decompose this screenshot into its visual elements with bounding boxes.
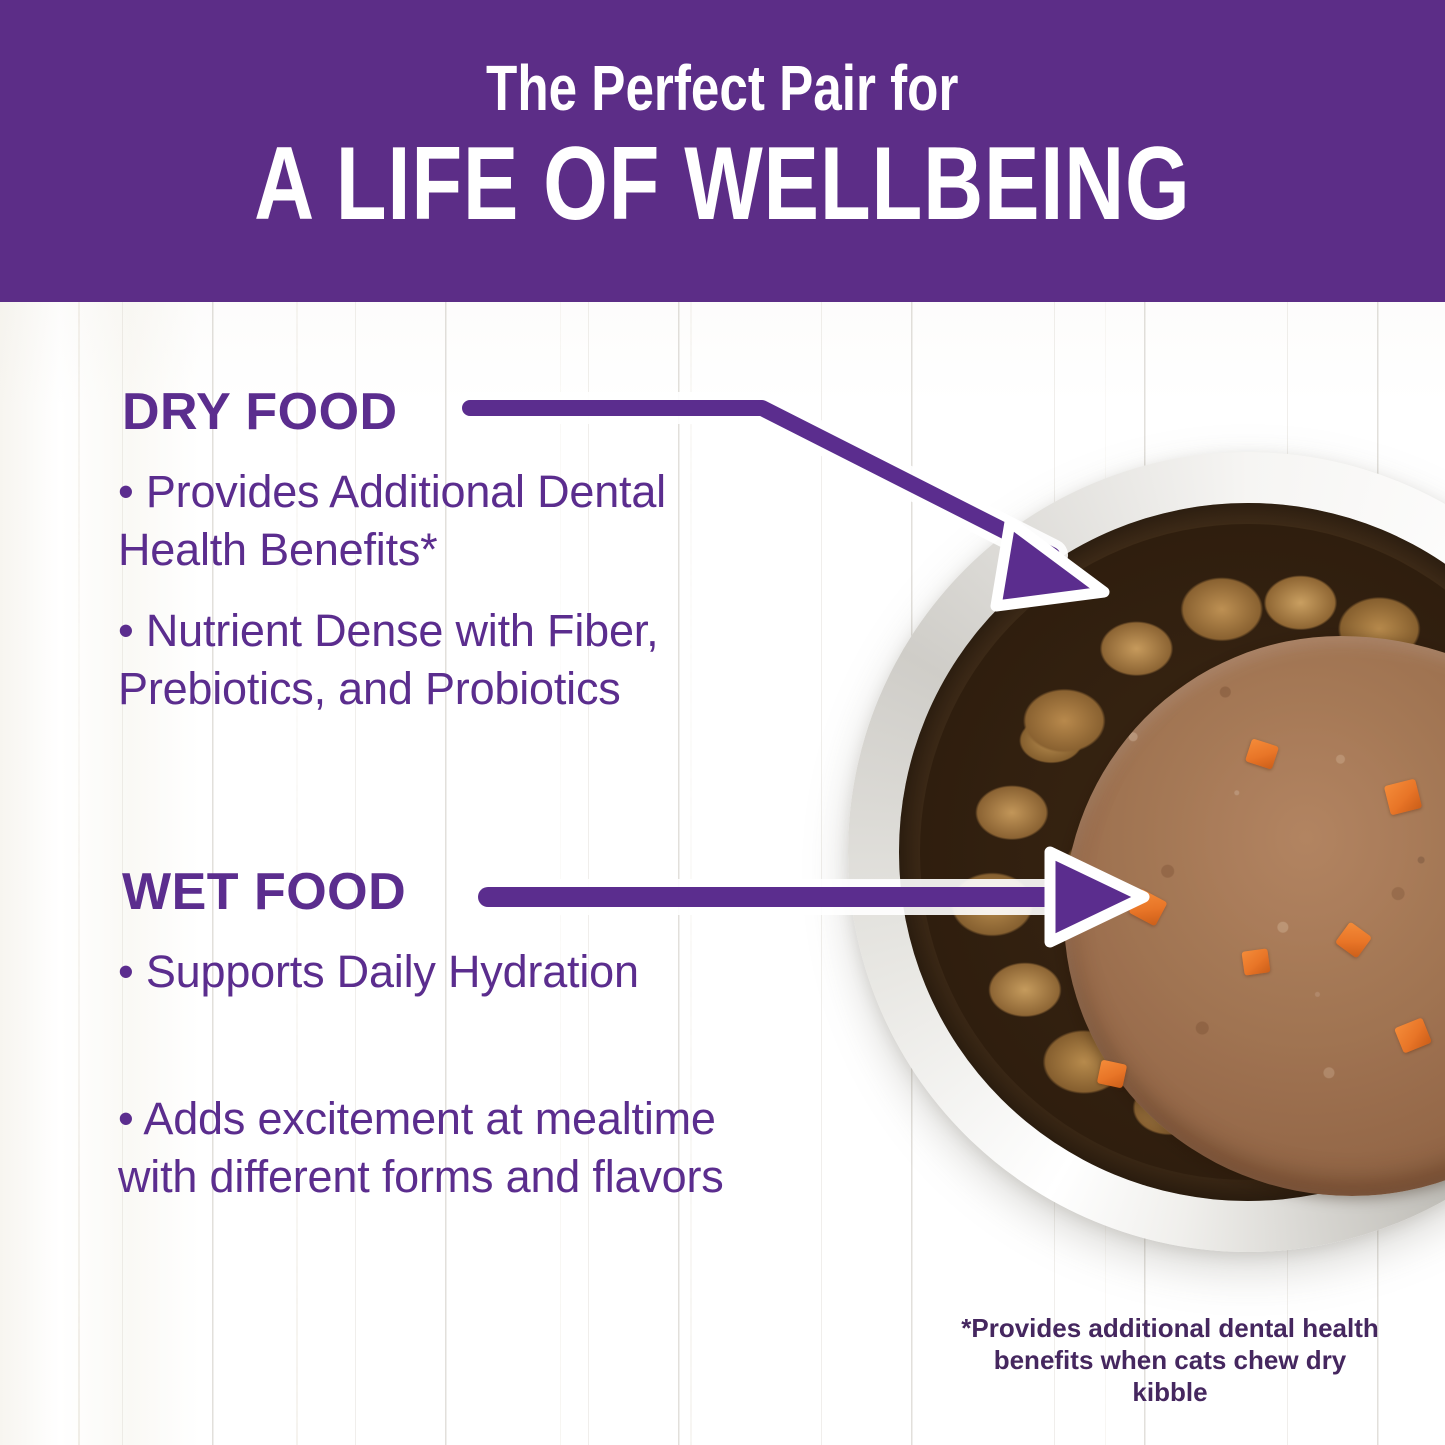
- footnote-line-1: *Provides additional dental health: [960, 1312, 1380, 1344]
- dry-food-heading: DRY FOOD: [122, 382, 398, 442]
- footnote-line-2: benefits when cats chew dry kibble: [960, 1344, 1380, 1408]
- product-benefit-infographic: The Perfect Pair for A LIFE OF WELLBEING: [0, 0, 1445, 1445]
- header-banner: The Perfect Pair for A LIFE OF WELLBEING: [0, 0, 1445, 302]
- wet-food-bullet-1: • Supports Daily Hydration: [118, 943, 798, 1001]
- header-subtitle: The Perfect Pair for: [486, 56, 958, 121]
- wet-food-heading: WET FOOD: [122, 862, 406, 922]
- carrot-piece: [1096, 1059, 1126, 1088]
- dry-food-bullet-1: • Provides Additional Dental Health Bene…: [118, 463, 798, 578]
- carrot-piece: [1241, 948, 1270, 975]
- dry-food-bullet-2: • Nutrient Dense with Fiber, Prebiotics,…: [118, 602, 798, 717]
- wet-food-bullet-2: • Adds excitement at mealtime with diffe…: [118, 1090, 798, 1205]
- dental-benefit-footnote: *Provides additional dental health benef…: [960, 1312, 1380, 1409]
- header-title: A LIFE OF WELLBEING: [254, 132, 1191, 236]
